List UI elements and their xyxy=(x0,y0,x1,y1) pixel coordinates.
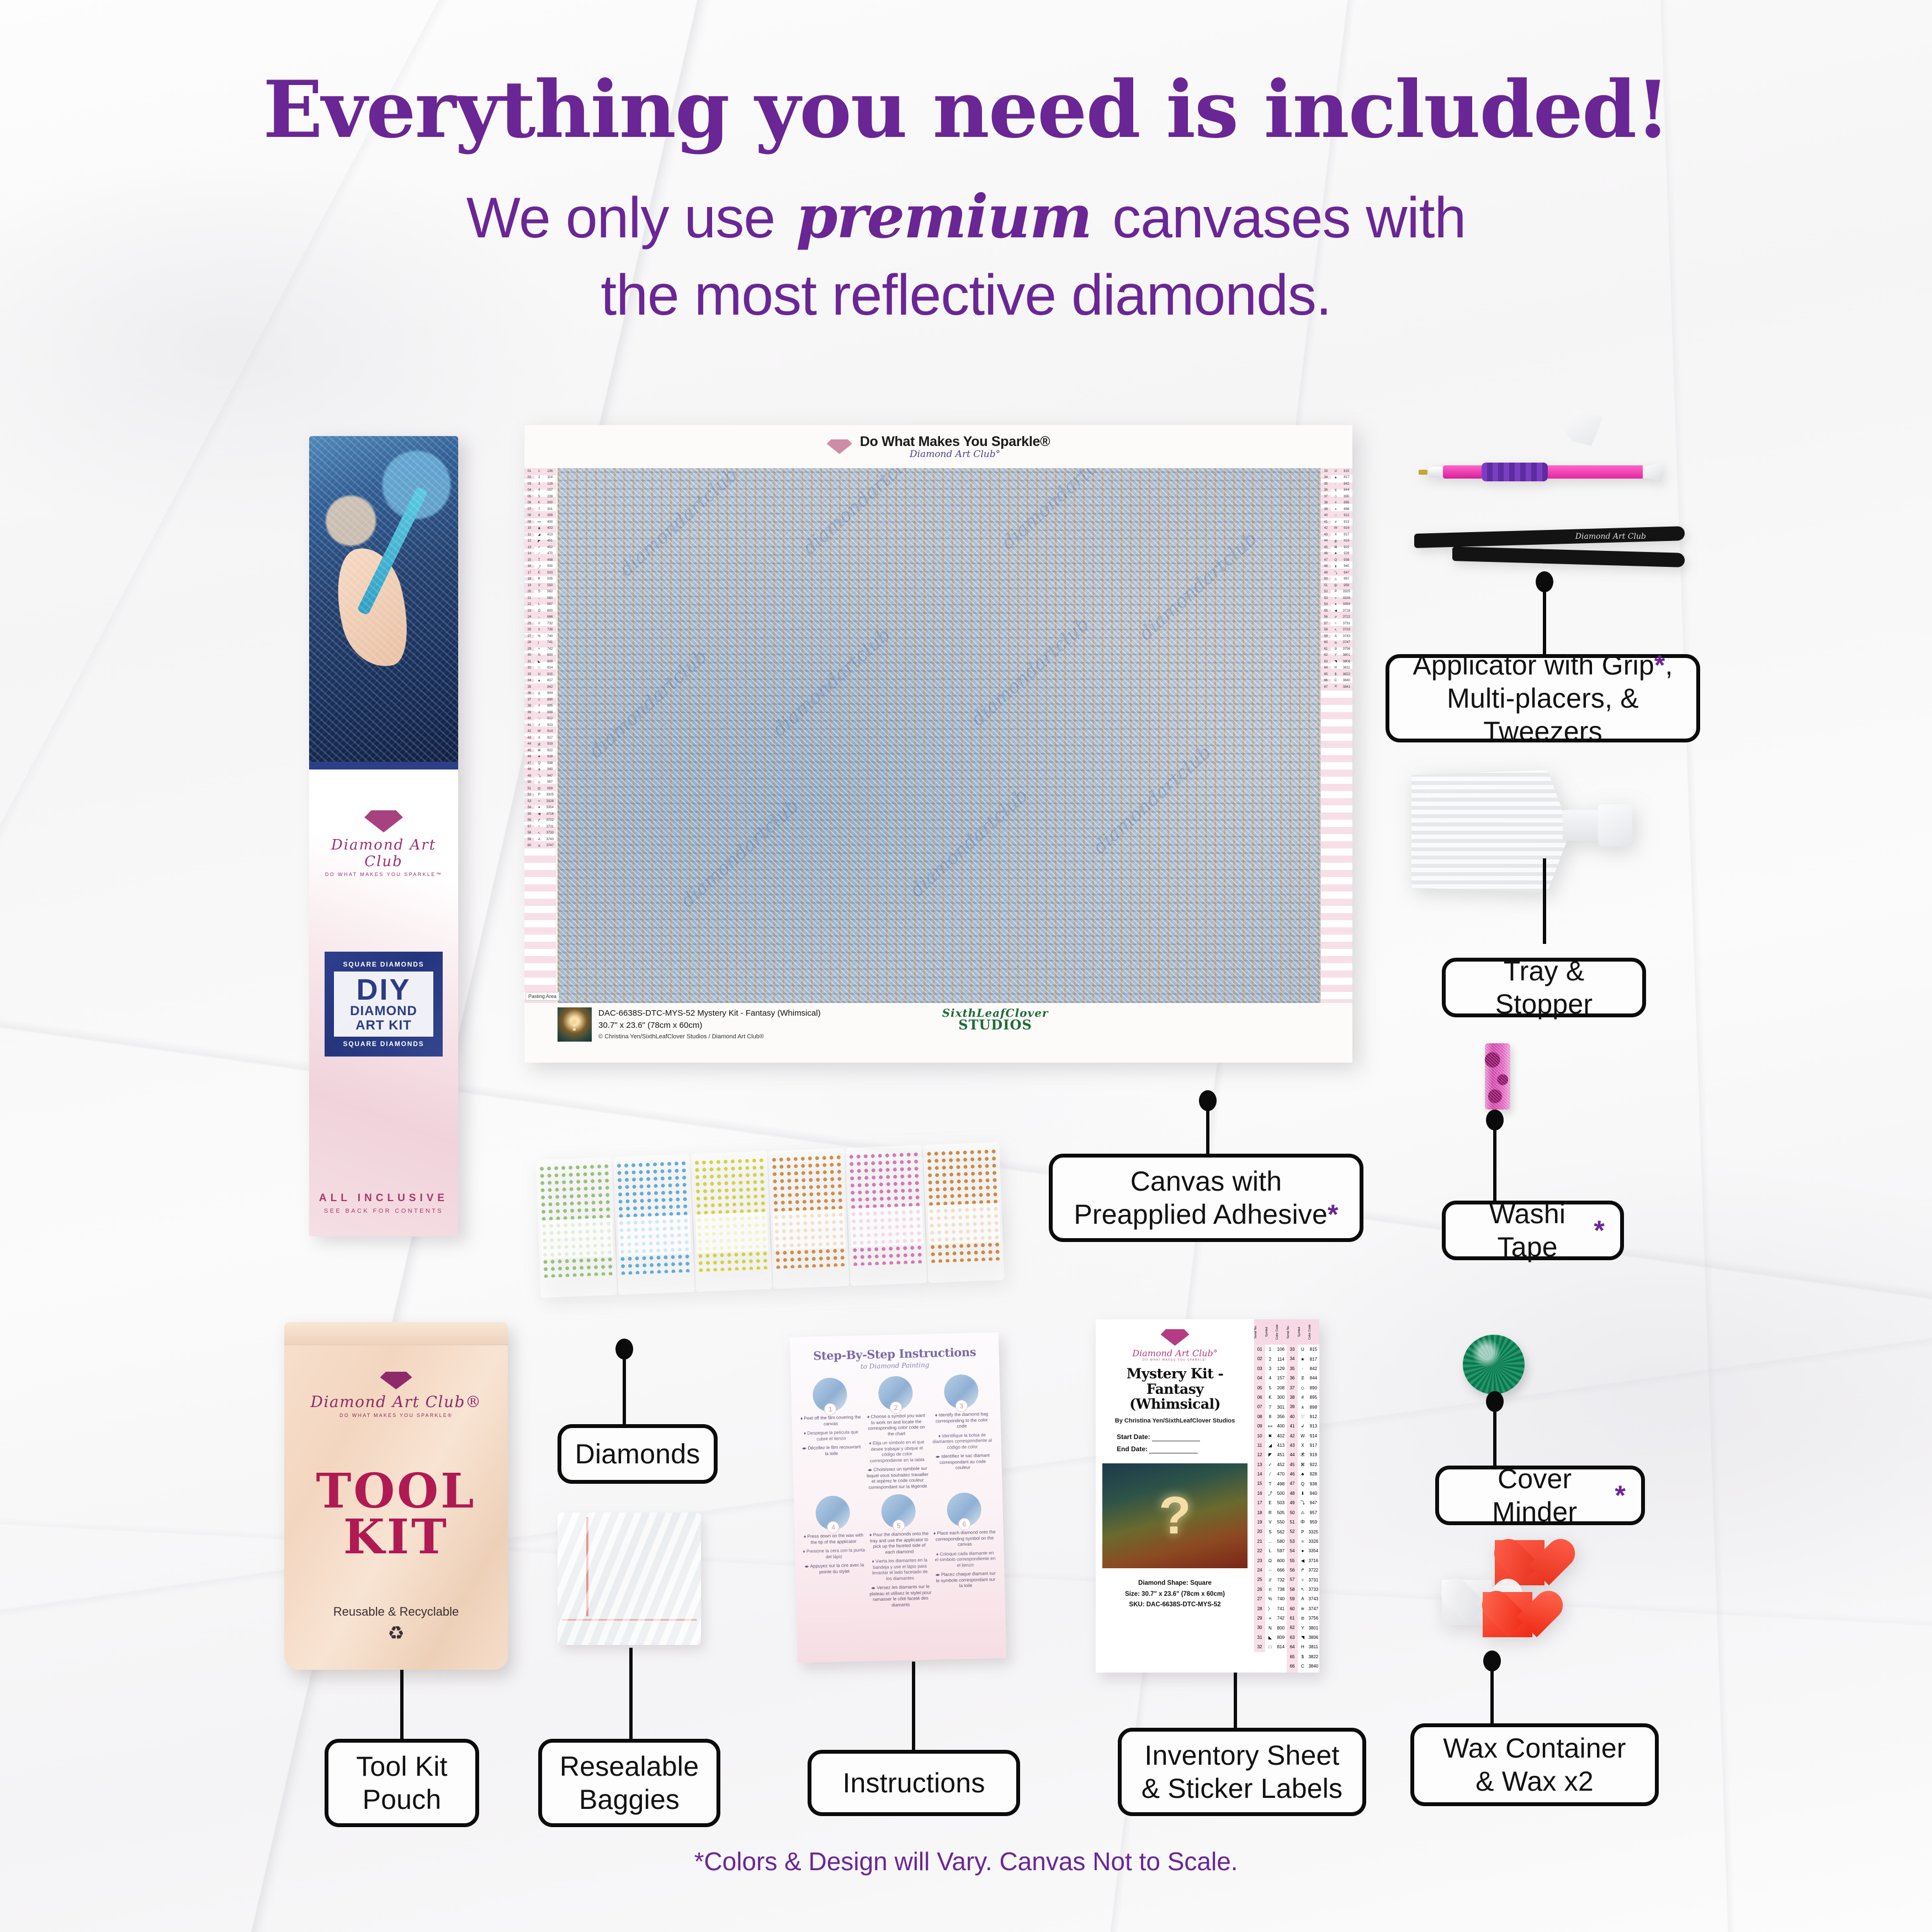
callout-canvas[interactable]: Canvas with Preapplied Adhesive* xyxy=(1049,1154,1363,1242)
callouts-layer: Applicator with Grip*, Multi-placers, & … xyxy=(0,0,1932,1932)
callout-wax-line1: Wax Container xyxy=(1443,1732,1626,1765)
callout-pouch-line2: Pouch xyxy=(363,1783,442,1816)
callout-inventory-line2: & Sticker Labels xyxy=(1142,1772,1342,1805)
callout-diamonds[interactable]: Diamonds xyxy=(558,1424,718,1484)
callout-inventory[interactable]: Inventory Sheet & Sticker Labels xyxy=(1118,1728,1366,1816)
callout-applicator-line1: Applicator with Grip*, xyxy=(1413,649,1673,682)
callout-tray[interactable]: Tray & Stopper xyxy=(1442,958,1646,1017)
leader-diamonds xyxy=(623,1350,626,1435)
callout-inventory-line1: Inventory Sheet xyxy=(1144,1739,1339,1772)
callout-applicator[interactable]: Applicator with Grip*, Multi-placers, & … xyxy=(1386,654,1700,742)
callout-washi[interactable]: Washi Tape* xyxy=(1442,1201,1624,1260)
callout-resealable-baggies[interactable]: Resealable Baggies xyxy=(538,1739,720,1827)
callout-canvas-line2: Preapplied Adhesive* xyxy=(1074,1198,1338,1231)
canvas-brand: Diamond Art Club° xyxy=(860,449,1050,460)
callout-tool-kit-pouch[interactable]: Tool Kit Pouch xyxy=(325,1739,479,1827)
diamond-icon xyxy=(827,439,852,454)
callout-cover-minder[interactable]: Cover Minder* xyxy=(1435,1466,1645,1525)
leader-tray xyxy=(1543,858,1546,944)
callout-wax[interactable]: Wax Container & Wax x2 xyxy=(1410,1723,1659,1806)
callout-reseal-line2: Baggies xyxy=(579,1783,680,1816)
leader-pouch xyxy=(400,1670,404,1742)
callout-pouch-line1: Tool Kit xyxy=(356,1750,448,1783)
callout-wax-line2: & Wax x2 xyxy=(1475,1765,1594,1798)
canvas-tagline: Do What Makes You Sparkle® xyxy=(860,434,1050,450)
canvas-header: Do What Makes You Sparkle® Diamond Art C… xyxy=(524,425,1352,468)
callout-instructions[interactable]: Instructions xyxy=(808,1750,1020,1816)
leader-washi xyxy=(1493,1121,1496,1209)
leader-reseal xyxy=(629,1648,633,1742)
callout-reseal-line1: Resealable xyxy=(560,1750,699,1783)
leader-instructions xyxy=(912,1662,915,1753)
callout-canvas-line1: Canvas with xyxy=(1130,1165,1282,1198)
callout-applicator-line2: Multi-placers, & Tweezers xyxy=(1405,682,1681,748)
footer-disclaimer: *Colors & Design will Vary. Canvas Not t… xyxy=(0,1846,1932,1876)
